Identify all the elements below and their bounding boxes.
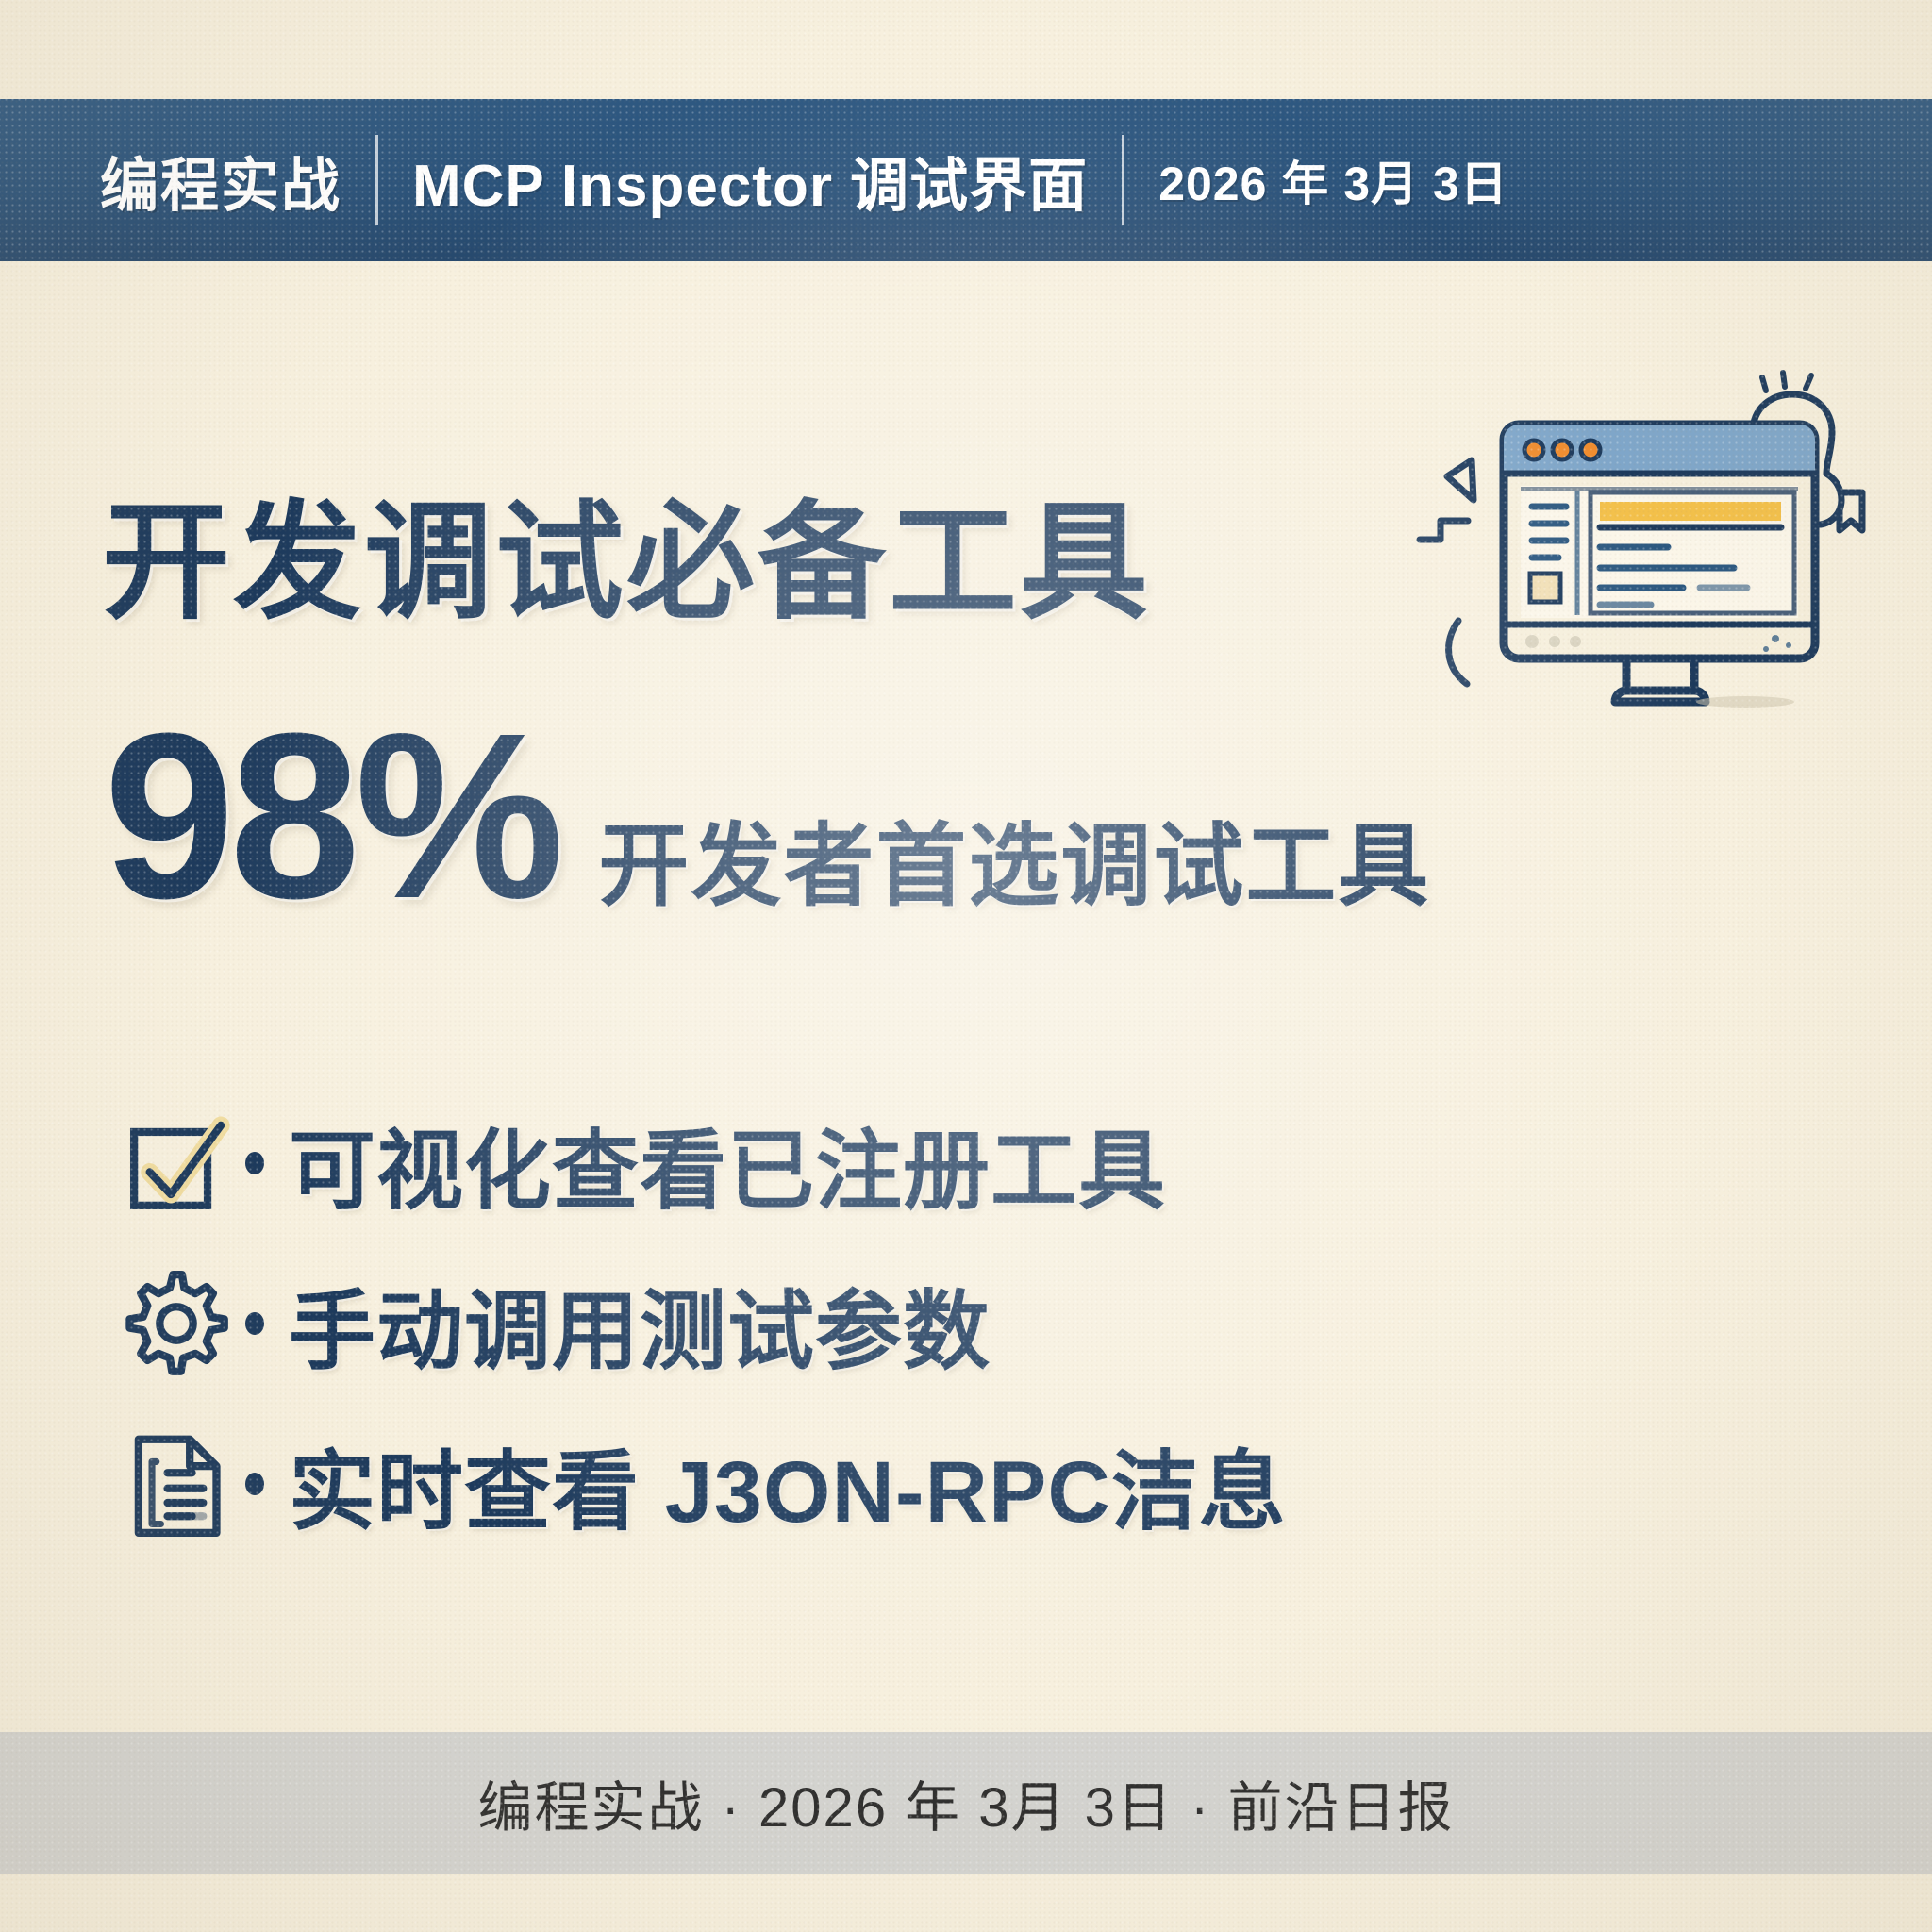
bullet-dot <box>245 1312 264 1335</box>
document-icon <box>121 1428 232 1540</box>
footer-text: 编程实战 · 2026 年 3月 3日 · 前沿日报 <box>478 1763 1455 1842</box>
header-date: 2026 年 3月 3日 <box>1158 146 1508 214</box>
header-band: 编程实战 MCP Inspector 调试界面 2026 年 3月 3日 <box>0 99 1932 261</box>
header-kicker: 编程实战 <box>100 138 341 223</box>
list-item: 手动调用测试参数 <box>121 1243 1536 1404</box>
list-item-label: 可视化查看已注册工具 <box>289 1101 1166 1226</box>
monitor-with-mascot-illustration <box>1415 321 1868 717</box>
bullet-dot <box>245 1152 264 1174</box>
stat-number: 98% <box>104 698 558 934</box>
stat-block: 98% 开发者首选调试工具 <box>104 698 1430 934</box>
page-title: 开发调试必备工具 <box>102 498 1151 626</box>
list-item-label: 手动调用测试参数 <box>289 1261 991 1387</box>
infographic-poster: 编程实战 MCP Inspector 调试界面 2026 年 3月 3日 <box>0 0 1932 1932</box>
stat-label: 开发者首选调试工具 <box>598 792 1430 924</box>
list-item-label: 实时查看 J3ON-RPC洁息 <box>289 1422 1287 1547</box>
bullet-dot <box>245 1473 264 1495</box>
checkbox-checked-icon <box>121 1108 232 1219</box>
list-item: 可视化查看已注册工具 <box>121 1083 1536 1243</box>
header-inner: 编程实战 MCP Inspector 调试界面 2026 年 3月 3日 <box>0 135 1932 225</box>
footer-band: 编程实战 · 2026 年 3月 3日 · 前沿日报 <box>0 1732 1932 1874</box>
feature-list: 可视化查看已注册工具 手动调用测试参数 <box>121 1083 1536 1564</box>
header-divider-1 <box>375 135 378 225</box>
header-title: MCP Inspector 调试界面 <box>412 138 1088 223</box>
header-divider-2 <box>1122 135 1124 225</box>
list-item: 实时查看 J3ON-RPC洁息 <box>121 1404 1536 1564</box>
gear-icon <box>121 1268 232 1379</box>
